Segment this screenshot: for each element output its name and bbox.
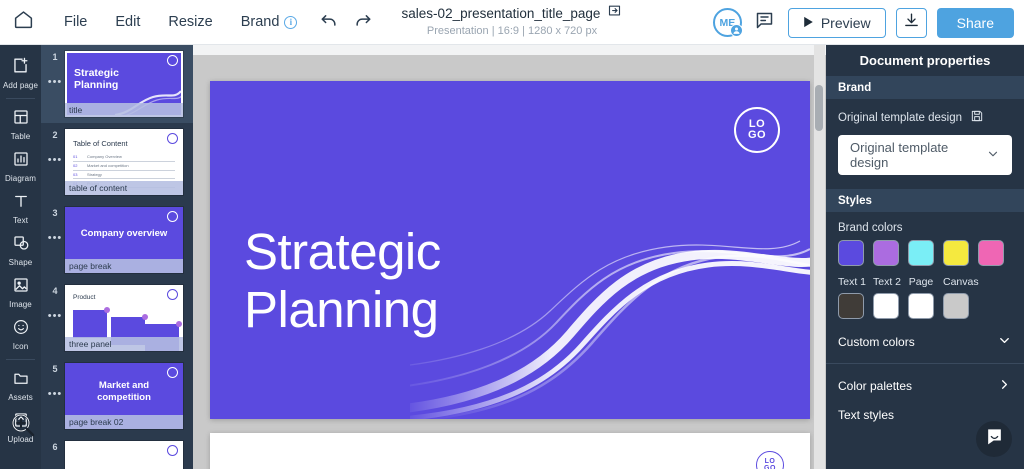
thumbnail-title-2: Table of Content: [73, 139, 128, 148]
smiley-icon: [12, 318, 30, 341]
comments-button[interactable]: [752, 10, 778, 36]
chevron-down-icon: [997, 333, 1012, 351]
rail-label-icon: Icon: [13, 342, 29, 351]
logo-line-2: GO: [748, 130, 766, 141]
toc-text: Strategy: [87, 172, 102, 177]
chat-support-button[interactable]: [976, 421, 1012, 457]
rail-item-table[interactable]: Table: [0, 103, 41, 145]
bar-chart-icon: [12, 150, 30, 173]
rail-item-add-page[interactable]: Add page: [0, 51, 41, 94]
thumbnail-gutter-4: 4 •••: [45, 285, 65, 322]
custom-colors-label: Custom colors: [838, 335, 915, 349]
rail-divider-2: [6, 359, 35, 360]
role-label-text1: Text 1: [838, 276, 864, 288]
person-badge-icon: [730, 24, 743, 37]
role-color-swatch-page[interactable]: [908, 293, 934, 319]
thumbnail-gutter-6: 6: [45, 441, 65, 452]
save-disk-icon[interactable]: [970, 109, 984, 126]
brand-colors-label: Brand colors: [826, 212, 1024, 240]
toc-num: 02: [73, 163, 87, 168]
rail-label-add-page: Add page: [3, 81, 38, 90]
brand-design-select-value: Original template design: [850, 140, 986, 170]
mini-logo-icon: [167, 133, 178, 144]
role-color-labels: Text 1 Text 2 Page Canvas: [826, 266, 1024, 293]
image-icon: [12, 276, 30, 299]
undo-arrow-icon: [319, 10, 339, 35]
section-styles: Styles: [826, 189, 1024, 212]
menu-brand-label: Brand: [241, 14, 280, 30]
logo-line-2: GO: [764, 465, 776, 469]
thumbnail-title-3: Company overview: [65, 229, 183, 239]
thumbnail-menu-2[interactable]: •••: [48, 154, 63, 166]
preview-button[interactable]: Preview: [788, 8, 886, 38]
thumbnail-row-1[interactable]: 1 ••• StrategicPlanning title: [41, 45, 193, 123]
thumbnail-card-3[interactable]: Company overview page break: [65, 207, 183, 273]
logo-line-1: LO: [765, 458, 776, 465]
canvas-area[interactable]: Strategic Planning LO GO LO GO: [193, 45, 826, 469]
thumbnail-row-4[interactable]: 4 ••• Product three panel: [41, 279, 193, 357]
brand-color-swatch-5[interactable]: [978, 240, 1004, 266]
rail-label-image: Image: [9, 300, 32, 309]
panel-dot: [104, 307, 110, 313]
brand-colors-swatches: [826, 240, 1024, 266]
download-icon: [903, 12, 920, 34]
rail-label-shape: Shape: [9, 258, 33, 267]
thumbnail-title-4: Product: [73, 294, 95, 301]
thumbnail-caption-1: title: [65, 103, 183, 117]
home-button[interactable]: [0, 0, 46, 45]
thumbnail-caption-4: three panel: [65, 337, 183, 351]
role-label-page: Page: [908, 276, 934, 288]
thumbnail-menu-5[interactable]: •••: [48, 388, 63, 400]
light-streak-artwork: [410, 119, 810, 419]
brand-color-swatch-1[interactable]: [838, 240, 864, 266]
thumbnail-gutter-1: 1 •••: [45, 51, 65, 88]
panel-card-1: [73, 310, 107, 338]
canvas-top-margin: [193, 45, 826, 55]
chevron-down-icon: [986, 147, 1000, 164]
text-t-icon: [12, 192, 30, 215]
menu-file[interactable]: File: [50, 8, 101, 36]
rail-label-diagram: Diagram: [5, 174, 36, 183]
menu-edit[interactable]: Edit: [101, 8, 154, 36]
rail-label-upload: Upload: [8, 435, 34, 444]
slide-1-title[interactable]: Strategic Planning: [244, 223, 441, 338]
document-properties-panel: Document properties Brand Original templ…: [826, 45, 1024, 469]
thumbnail-caption-5: page break 02: [65, 415, 183, 429]
rail-item-shape[interactable]: Shape: [0, 229, 41, 271]
mini-logo-icon: [167, 55, 178, 66]
role-color-swatch-text2[interactable]: [873, 293, 899, 319]
thumbnail-number-6: 6: [52, 442, 57, 452]
rail-item-diagram[interactable]: Diagram: [0, 145, 41, 187]
panel-dot: [142, 314, 148, 320]
rail-item-image[interactable]: Image: [0, 271, 41, 313]
thumbnail-row-6[interactable]: 6: [41, 435, 193, 469]
tool-rail: Add page Table Diagram: [0, 45, 41, 469]
document-info: sales-02_presentation_title_page Present…: [352, 3, 672, 37]
document-title[interactable]: sales-02_presentation_title_page: [402, 6, 601, 21]
thumbnail-number-4: 4: [52, 286, 57, 296]
folder-icon: [12, 369, 30, 392]
thumbnail-row-3[interactable]: 3 ••• Company overview page break: [41, 201, 193, 279]
thumbnail-gutter-2: 2 •••: [45, 129, 65, 166]
thumbnail-number-1: 1: [52, 52, 57, 62]
brand-design-label: Original template design: [838, 112, 962, 124]
role-color-swatch-canvas[interactable]: [943, 293, 969, 319]
color-palettes-row[interactable]: Color palettes: [826, 366, 1024, 406]
thumbnail-caption-3: page break: [65, 259, 183, 273]
play-triangle-icon: [803, 15, 814, 31]
brand-color-swatch-3[interactable]: [908, 240, 934, 266]
thumbnail-number-5: 5: [52, 364, 57, 374]
menu-resize[interactable]: Resize: [154, 8, 226, 36]
toc-num: 03: [73, 172, 87, 177]
slide-thumbnail-panel[interactable]: 1 ••• StrategicPlanning title 2 •••: [41, 45, 193, 469]
color-palettes-label: Color palettes: [838, 379, 912, 393]
role-label-text2: Text 2: [873, 276, 899, 288]
slide-1-title-line2: Planning: [244, 281, 441, 339]
mini-logo-icon: [167, 289, 178, 300]
thumbnail-card-2[interactable]: Table of Content 01 Company Overview 02 …: [65, 129, 183, 195]
document-subtitle: Presentation | 16:9 | 1280 x 720 px: [352, 25, 672, 37]
thumbnail-menu-3[interactable]: •••: [48, 232, 63, 244]
rail-label-table: Table: [11, 132, 31, 141]
thumbnail-title-5: Market and competition: [75, 380, 173, 404]
mini-logo-icon: [167, 211, 178, 222]
rail-item-text[interactable]: Text: [0, 187, 41, 229]
open-in-new-icon[interactable]: [607, 3, 622, 23]
mini-logo-icon: [167, 367, 178, 378]
brand-color-swatch-2[interactable]: [873, 240, 899, 266]
share-button[interactable]: Share: [937, 8, 1014, 38]
thumbnail-gutter-5: 5 •••: [45, 363, 65, 400]
rail-label-text: Text: [13, 216, 28, 225]
add-page-icon: [11, 56, 30, 80]
rail-divider-1: [6, 98, 35, 99]
brand-color-swatch-4[interactable]: [943, 240, 969, 266]
top-right-actions: ME Preview: [713, 0, 1014, 45]
toc-text: Company Overview: [87, 154, 122, 159]
top-toolbar: File Edit Resize Brand i: [0, 0, 1024, 45]
shape-icon: [12, 234, 30, 257]
role-colors-swatches: [826, 293, 1024, 319]
panel-divider: [826, 363, 1024, 364]
canvas-scrollbar[interactable]: [814, 45, 825, 469]
slide-2[interactable]: LO GO: [210, 433, 810, 469]
chevron-right-icon: [997, 377, 1012, 395]
properties-title: Document properties: [826, 45, 1024, 76]
thumbnail-card-4[interactable]: Product three panel: [65, 285, 183, 351]
role-color-swatch-text1[interactable]: [838, 293, 864, 319]
toc-text: Market and competition: [87, 163, 129, 168]
undo-button[interactable]: [317, 10, 341, 34]
logo-badge[interactable]: LO GO: [756, 451, 784, 469]
main-menu: File Edit Resize Brand i: [50, 8, 305, 36]
thumbnail-card-6[interactable]: [65, 441, 183, 469]
comment-icon: [754, 10, 775, 36]
menu-brand[interactable]: Brand i: [227, 8, 306, 36]
thumbnail-card-5[interactable]: Market and competition page break 02: [65, 363, 183, 429]
upload-icon: [12, 411, 30, 434]
brand-design-select[interactable]: Original template design: [838, 135, 1012, 175]
thumbnail-number-3: 3: [52, 208, 57, 218]
custom-colors-row[interactable]: Custom colors: [826, 319, 1024, 361]
rail-item-icon[interactable]: Icon: [0, 313, 41, 355]
download-button[interactable]: [896, 8, 927, 38]
share-label: Share: [957, 15, 994, 31]
rail-item-upload[interactable]: Upload: [0, 406, 41, 448]
slide-1-title-line1: Strategic: [244, 223, 441, 281]
brand-design-row: Original template design Original templa…: [826, 99, 1024, 175]
thumbnail-caption-2: table of content: [65, 181, 183, 195]
thumbnail-card-1[interactable]: StrategicPlanning title: [65, 51, 183, 117]
panel-dot: [176, 321, 182, 327]
role-label-canvas: Canvas: [943, 276, 969, 288]
section-brand: Brand: [826, 76, 1024, 99]
logo-badge[interactable]: LO GO: [734, 107, 780, 153]
thumbnail-row-5[interactable]: 5 ••• Market and competition page break …: [41, 357, 193, 435]
preview-label: Preview: [821, 15, 871, 31]
thumbnail-row-2[interactable]: 2 ••• Table of Content 01 Company Overvi…: [41, 123, 193, 201]
canvas-scroll-thumb[interactable]: [815, 85, 823, 131]
mini-logo-icon: [167, 445, 178, 456]
text-styles-label: Text styles: [838, 408, 894, 422]
rail-label-assets: Assets: [8, 393, 33, 402]
avatar[interactable]: ME: [713, 8, 742, 37]
info-icon[interactable]: i: [284, 16, 297, 29]
thumbnail-menu-4[interactable]: •••: [48, 310, 63, 322]
home-icon: [13, 9, 34, 35]
table-icon: [12, 108, 30, 131]
slide-1[interactable]: Strategic Planning LO GO: [210, 81, 810, 419]
thumbnail-gutter-3: 3 •••: [45, 207, 65, 244]
rail-item-assets[interactable]: Assets: [0, 364, 41, 406]
chat-bubble-icon: [985, 427, 1004, 451]
thumbnail-number-2: 2: [52, 130, 57, 140]
toc-num: 01: [73, 154, 87, 159]
thumbnail-menu-1[interactable]: •••: [48, 76, 63, 88]
